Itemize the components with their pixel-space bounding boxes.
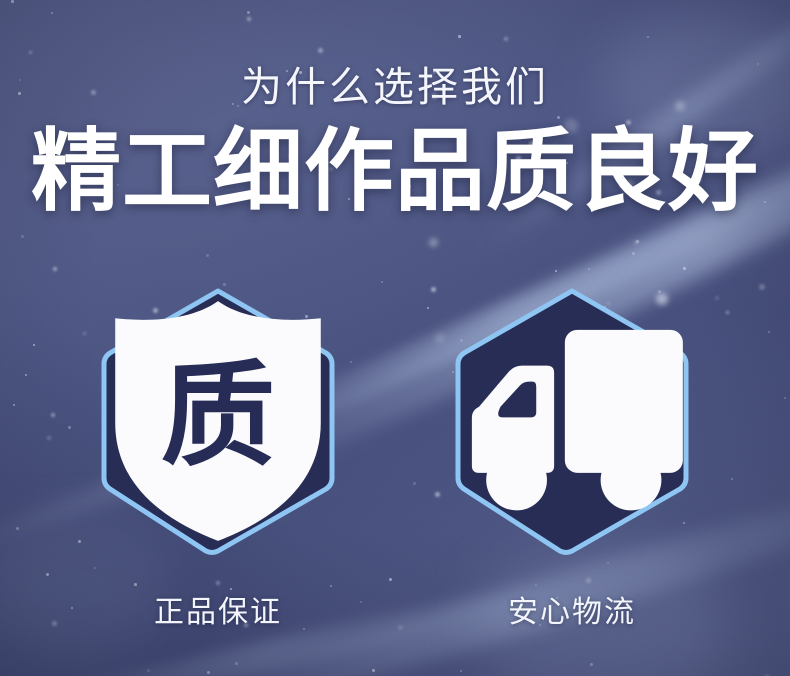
shield-icon: 质 (100, 285, 336, 557)
shield-character: 质 (161, 353, 275, 480)
hexagon-badge[interactable]: 质 (100, 285, 336, 557)
feature-item-authentic-guarantee[interactable]: 质 正品保证 (100, 285, 336, 631)
banner-subtitle: 为什么选择我们 (0, 0, 790, 111)
why-choose-us-banner: 为什么选择我们 精工细作品质良好 质 正品保证 (0, 0, 790, 676)
feature-label-worry-free-logistics: 安心物流 (508, 587, 636, 631)
truck-front-wheel (486, 450, 547, 511)
feature-item-worry-free-logistics[interactable]: 安心物流 (454, 285, 690, 631)
truck-rear-wheel (601, 450, 662, 511)
hexagon-badge[interactable] (454, 285, 690, 557)
feature-label-authentic-guarantee: 正品保证 (154, 587, 282, 631)
delivery-truck-icon (454, 285, 690, 557)
heading-group: 为什么选择我们 精工细作品质良好 (0, 0, 790, 217)
banner-title: 精工细作品质良好 (0, 111, 790, 217)
feature-list: 质 正品保证 (0, 285, 790, 631)
